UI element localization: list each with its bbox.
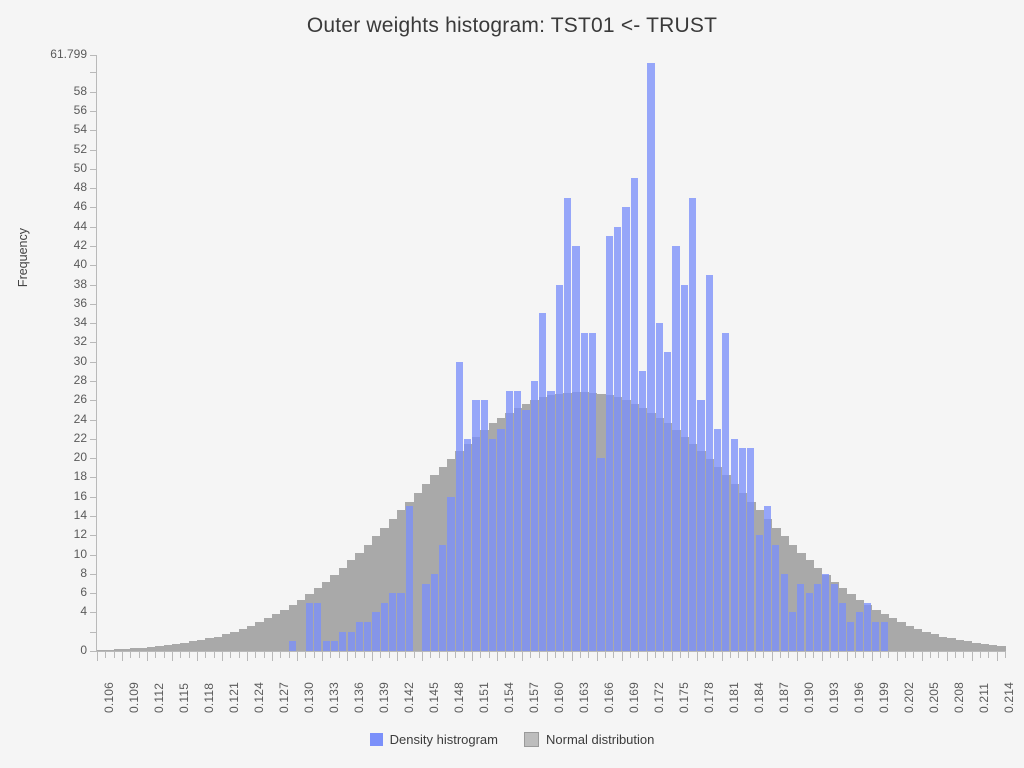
histogram-bar[interactable]: [522, 410, 529, 651]
y-axis-tick-label: 58: [74, 84, 87, 98]
x-axis-tick: [439, 652, 440, 658]
x-axis-tick: [822, 652, 823, 661]
y-axis-tick-label: 6: [80, 585, 87, 599]
histogram-bar[interactable]: [806, 593, 813, 651]
x-axis-tick-label: 0.115: [177, 683, 191, 713]
y-axis-tick: [90, 304, 97, 305]
y-axis-tick-label: 20: [74, 450, 87, 464]
x-axis-tick: [997, 652, 998, 661]
y-axis-tick-label: 54: [74, 122, 87, 136]
y-axis-tick: [90, 477, 97, 478]
y-axis-tick: [90, 72, 97, 73]
x-axis-tick: [330, 652, 331, 658]
y-axis-tick-label: 12: [74, 527, 87, 541]
histogram-bar[interactable]: [589, 333, 596, 651]
x-axis-tick: [364, 652, 365, 658]
x-axis-tick: [713, 652, 714, 658]
histogram-bar[interactable]: [872, 622, 879, 651]
histogram-bar[interactable]: [506, 391, 513, 651]
histogram-bar[interactable]: [639, 371, 646, 651]
x-axis-tick: [430, 652, 431, 658]
histogram-bar[interactable]: [731, 439, 738, 651]
x-axis-tick: [938, 652, 939, 658]
y-axis-tick-label: 30: [74, 354, 87, 368]
y-axis-tick: [90, 188, 97, 189]
histogram-bar[interactable]: [856, 612, 863, 651]
x-axis-tick-label: 0.109: [127, 682, 141, 713]
y-axis-tick: [90, 92, 97, 93]
histogram-bar[interactable]: [764, 506, 771, 651]
y-axis-tick: [90, 130, 97, 131]
x-axis-tick-label: 0.121: [227, 682, 241, 713]
x-axis-tick: [314, 652, 315, 658]
y-axis-tick: [90, 169, 97, 170]
legend-item-density-histogram[interactable]: Density histrogram: [370, 732, 498, 747]
x-axis-tick-label: 0.160: [552, 682, 566, 713]
x-axis-tick: [672, 652, 673, 661]
histogram-bar[interactable]: [539, 313, 546, 651]
x-axis-tick: [372, 652, 373, 661]
histogram-bar[interactable]: [722, 333, 729, 651]
x-axis-tick: [855, 652, 856, 658]
y-axis-tick-label: 10: [74, 547, 87, 561]
x-axis-tick: [655, 652, 656, 658]
y-axis-tick: [90, 265, 97, 266]
y-axis-tick-label: 46: [74, 199, 87, 213]
x-axis-tick: [972, 652, 973, 661]
x-axis-tick: [455, 652, 456, 658]
x-axis-tick-label: 0.199: [877, 682, 891, 713]
x-axis-tick-label: 0.106: [102, 682, 116, 713]
x-axis-tick-label: 0.214: [1002, 682, 1016, 713]
x-axis-tick-label: 0.208: [952, 682, 966, 713]
x-axis-tick: [247, 652, 248, 661]
histogram-bar[interactable]: [797, 584, 804, 652]
x-axis-tick-label: 0.193: [827, 682, 841, 713]
y-axis-tick: [90, 55, 97, 56]
histogram-bar[interactable]: [881, 622, 888, 651]
y-axis-tick: [90, 342, 97, 343]
x-axis-tick-label: 0.139: [377, 682, 391, 713]
histogram-bar[interactable]: [739, 448, 746, 651]
x-axis-tick-label: 0.181: [727, 682, 741, 713]
x-axis-tick: [838, 652, 839, 658]
x-axis-tick: [280, 652, 281, 658]
histogram-bar[interactable]: [781, 574, 788, 651]
histogram-bar[interactable]: [306, 603, 313, 651]
x-axis-tick: [572, 652, 573, 661]
y-axis-tick: [90, 420, 97, 421]
x-axis-tick: [514, 652, 515, 658]
y-axis-tick: [90, 535, 97, 536]
histogram-bar[interactable]: [389, 593, 396, 651]
y-axis-tick: [90, 516, 97, 517]
histogram-bar[interactable]: [381, 603, 388, 651]
histogram-bar[interactable]: [372, 612, 379, 651]
y-axis-tick-label: 52: [74, 142, 87, 156]
y-axis-tick-label: 56: [74, 103, 87, 117]
x-axis-tick: [930, 652, 931, 658]
x-axis-tick-label: 0.184: [752, 682, 766, 713]
x-axis-tick: [913, 652, 914, 658]
x-axis-tick-label: 0.136: [352, 682, 366, 713]
y-axis-tick-label: 26: [74, 392, 87, 406]
x-axis-tick: [347, 652, 348, 661]
x-axis-tick: [97, 652, 98, 661]
y-axis-tick: [90, 497, 97, 498]
x-axis-tick: [1005, 652, 1006, 658]
x-axis-tick: [597, 652, 598, 661]
histogram-bar[interactable]: [697, 400, 704, 651]
x-axis-tick: [480, 652, 481, 658]
x-axis-tick: [588, 652, 589, 658]
x-axis-tick-label: 0.142: [402, 682, 416, 713]
normal-curve-segment: [997, 646, 1006, 651]
x-axis-tick-label: 0.190: [802, 682, 816, 713]
histogram-bar[interactable]: [348, 632, 355, 651]
histogram-bar[interactable]: [331, 641, 338, 651]
x-axis-tick-label: 0.202: [902, 682, 916, 713]
x-axis-tick: [705, 652, 706, 658]
x-axis-tick: [547, 652, 548, 661]
x-axis-tick: [947, 652, 948, 661]
histogram-bar[interactable]: [822, 574, 829, 651]
histogram-bar[interactable]: [564, 198, 571, 651]
x-axis-tick: [738, 652, 739, 658]
x-axis-tick-label: 0.130: [302, 682, 316, 713]
x-axis-tick: [405, 652, 406, 658]
histogram-bar[interactable]: [789, 612, 796, 651]
x-axis-tick: [605, 652, 606, 658]
x-axis-tick: [872, 652, 873, 661]
y-axis-tick-label: 22: [74, 431, 87, 445]
y-axis-tick: [90, 400, 97, 401]
x-axis-tick: [339, 652, 340, 658]
y-axis-tick: [90, 227, 97, 228]
x-axis-tick: [222, 652, 223, 661]
x-axis-tick: [389, 652, 390, 658]
x-axis-tick: [863, 652, 864, 658]
x-axis-tick: [355, 652, 356, 658]
histogram-chart: Outer weights histogram: TST01 <- TRUST …: [0, 0, 1024, 768]
legend-swatch-icon: [370, 733, 383, 746]
histogram-bar[interactable]: [339, 632, 346, 651]
x-axis-tick: [638, 652, 639, 658]
x-axis-tick: [980, 652, 981, 658]
y-axis-tick-label: 32: [74, 334, 87, 348]
y-axis-tick: [90, 458, 97, 459]
x-axis-tick: [297, 652, 298, 661]
y-axis-tick: [90, 323, 97, 324]
histogram-bar[interactable]: [606, 236, 613, 651]
histogram-bar[interactable]: [531, 381, 538, 651]
x-axis-tick: [630, 652, 631, 658]
y-axis-title: Frequency: [16, 168, 30, 288]
x-axis-tick-label: 0.133: [327, 682, 341, 713]
x-axis-tick-label: 0.205: [927, 682, 941, 713]
histogram-bar[interactable]: [289, 641, 296, 651]
y-axis-tick: [90, 111, 97, 112]
x-axis-tick-label: 0.154: [502, 682, 516, 713]
x-axis-tick: [497, 652, 498, 661]
histogram-bar[interactable]: [597, 458, 604, 651]
x-axis-tick: [380, 652, 381, 658]
y-axis-tick-label: 50: [74, 161, 87, 175]
x-axis-tick: [305, 652, 306, 658]
histogram-bar[interactable]: [406, 506, 413, 651]
y-axis-tick-label: 4: [80, 604, 87, 618]
x-axis-tick: [139, 652, 140, 658]
x-axis-tick: [122, 652, 123, 661]
x-axis-tick: [688, 652, 689, 658]
y-axis-tick-label: 0: [80, 643, 87, 657]
x-axis-tick: [489, 652, 490, 658]
x-axis-tick: [880, 652, 881, 658]
x-axis-tick-label: 0.187: [777, 682, 791, 713]
x-axis-tick: [788, 652, 789, 658]
x-axis-tick: [172, 652, 173, 661]
y-axis-tick: [90, 150, 97, 151]
histogram-bar[interactable]: [481, 400, 488, 651]
histogram-bar[interactable]: [664, 352, 671, 651]
histogram-bar[interactable]: [847, 622, 854, 651]
x-axis-tick: [805, 652, 806, 658]
y-axis-tick: [90, 651, 97, 652]
chart-legend: Density histrogram Normal distribution: [0, 732, 1024, 747]
y-axis-tick: [90, 439, 97, 440]
histogram-bar[interactable]: [772, 545, 779, 651]
histogram-bar[interactable]: [556, 285, 563, 651]
x-axis-tick: [613, 652, 614, 658]
histogram-bar[interactable]: [323, 641, 330, 651]
histogram-bar[interactable]: [714, 429, 721, 651]
histogram-bar[interactable]: [706, 275, 713, 651]
x-axis-tick: [464, 652, 465, 658]
y-axis-tick: [90, 593, 97, 594]
y-axis-tick-label: 8: [80, 566, 87, 580]
x-axis-tick: [447, 652, 448, 661]
y-axis-tick-label: 44: [74, 219, 87, 233]
histogram-bar[interactable]: [681, 285, 688, 651]
y-axis-tick: [90, 632, 97, 633]
y-axis-tick-label: 34: [74, 315, 87, 329]
x-axis-tick: [255, 652, 256, 658]
x-axis-tick: [797, 652, 798, 661]
x-axis-tick-label: 0.172: [652, 682, 666, 713]
y-axis-tick-label: 14: [74, 508, 87, 522]
x-axis-tick: [763, 652, 764, 658]
y-axis-tick-label: 40: [74, 257, 87, 271]
histogram-bar[interactable]: [747, 448, 754, 651]
chart-title: Outer weights histogram: TST01 <- TRUST: [0, 14, 1024, 38]
x-axis-tick-label: 0.118: [202, 683, 216, 713]
histogram-bar[interactable]: [572, 246, 579, 651]
y-axis-tick: [90, 612, 97, 613]
x-axis-tick-label: 0.163: [577, 682, 591, 713]
histogram-bar[interactable]: [814, 584, 821, 652]
x-axis-tick-label: 0.157: [527, 682, 541, 713]
x-axis-tick: [189, 652, 190, 658]
x-axis-tick: [813, 652, 814, 658]
x-axis-tick: [722, 652, 723, 661]
x-axis-tick: [397, 652, 398, 661]
x-axis-tick: [205, 652, 206, 658]
x-axis-tick: [180, 652, 181, 658]
histogram-bar[interactable]: [864, 603, 871, 651]
x-axis-tick-label: 0.151: [477, 682, 491, 713]
x-axis-tick: [505, 652, 506, 658]
x-axis-tick: [197, 652, 198, 661]
x-axis-tick: [780, 652, 781, 658]
histogram-bar[interactable]: [672, 246, 679, 651]
x-axis-tick-label: 0.196: [852, 682, 866, 713]
y-axis-tick: [90, 207, 97, 208]
x-axis-tick: [322, 652, 323, 661]
histogram-bar[interactable]: [756, 535, 763, 651]
x-axis-tick: [747, 652, 748, 661]
histogram-bar[interactable]: [464, 439, 471, 651]
x-axis-tick-label: 0.127: [277, 682, 291, 713]
x-axis-tick-label: 0.112: [152, 683, 166, 713]
histogram-bar[interactable]: [356, 622, 363, 651]
y-axis-tick-label: 24: [74, 412, 87, 426]
y-axis-tick: [90, 555, 97, 556]
x-axis-tick: [663, 652, 664, 658]
x-axis-tick-label: 0.169: [627, 682, 641, 713]
x-axis-tick: [622, 652, 623, 661]
y-axis-tick-label: 28: [74, 373, 87, 387]
x-axis-tick: [963, 652, 964, 658]
x-axis-tick: [422, 652, 423, 661]
x-axis-tick: [530, 652, 531, 658]
x-axis-tick: [214, 652, 215, 658]
histogram-bar[interactable]: [547, 391, 554, 651]
x-axis-tick: [522, 652, 523, 661]
y-axis-tick: [90, 285, 97, 286]
x-axis-tick: [888, 652, 889, 658]
legend-label: Density histrogram: [390, 732, 498, 747]
x-axis-tick: [289, 652, 290, 658]
histogram-bar[interactable]: [656, 323, 663, 651]
legend-item-normal-distribution[interactable]: Normal distribution: [524, 732, 654, 747]
histogram-bar[interactable]: [439, 545, 446, 651]
histogram-bar[interactable]: [831, 584, 838, 652]
x-axis-tick: [230, 652, 231, 658]
y-axis-tick: [90, 246, 97, 247]
x-axis-line: [96, 651, 1006, 652]
x-axis-tick: [130, 652, 131, 658]
x-axis-tick: [897, 652, 898, 661]
x-axis-tick: [922, 652, 923, 661]
histogram-bar[interactable]: [314, 603, 321, 651]
y-axis-title-text: Frequency: [16, 228, 30, 287]
histogram-bar[interactable]: [514, 391, 521, 651]
x-axis-tick: [988, 652, 989, 658]
histogram-bar[interactable]: [497, 429, 504, 651]
y-axis-tick-label: 61.799: [50, 47, 87, 61]
x-axis-tick: [555, 652, 556, 658]
x-axis-tick: [955, 652, 956, 658]
histogram-bar[interactable]: [647, 63, 654, 651]
x-axis-tick-label: 0.178: [702, 682, 716, 713]
x-axis-tick-label: 0.166: [602, 682, 616, 713]
x-axis-tick-label: 0.124: [252, 682, 266, 713]
plot-area: [97, 55, 1005, 651]
y-axis-tick-label: 42: [74, 238, 87, 252]
y-axis-tick-label: 16: [74, 489, 87, 503]
x-axis-tick: [905, 652, 906, 658]
x-axis-tick: [272, 652, 273, 661]
x-axis-tick: [697, 652, 698, 661]
x-axis-tick-label: 0.145: [427, 682, 441, 713]
x-axis-tick: [155, 652, 156, 658]
x-axis-tick: [580, 652, 581, 658]
x-axis-tick-label: 0.148: [452, 682, 466, 713]
histogram-bar[interactable]: [422, 584, 429, 652]
y-axis-tick: [90, 574, 97, 575]
histogram-bar[interactable]: [614, 227, 621, 651]
x-axis-tick: [772, 652, 773, 661]
histogram-bar[interactable]: [622, 207, 629, 651]
x-axis-tick: [147, 652, 148, 661]
histogram-bar[interactable]: [581, 333, 588, 651]
histogram-bar[interactable]: [456, 362, 463, 651]
y-axis-tick-label: 36: [74, 296, 87, 310]
x-axis-tick-label: 0.211: [977, 683, 991, 713]
legend-label: Normal distribution: [546, 732, 654, 747]
histogram-bar[interactable]: [689, 198, 696, 651]
histogram-bar[interactable]: [631, 178, 638, 651]
histogram-bar[interactable]: [364, 622, 371, 651]
histogram-bar[interactable]: [447, 497, 454, 651]
y-axis-tick-label: 18: [74, 469, 87, 483]
x-axis-tick: [847, 652, 848, 661]
x-axis-tick: [539, 652, 540, 658]
x-axis-tick: [414, 652, 415, 658]
y-axis-tick-label: 48: [74, 180, 87, 194]
histogram-bar[interactable]: [489, 439, 496, 651]
histogram-bar[interactable]: [839, 603, 846, 651]
x-axis-tick: [647, 652, 648, 661]
legend-swatch-icon: [524, 732, 539, 747]
x-axis-tick: [730, 652, 731, 658]
y-axis-tick-label: 38: [74, 277, 87, 291]
x-axis-tick-label: 0.175: [677, 682, 691, 713]
y-axis-line: [96, 55, 97, 652]
x-axis-tick: [472, 652, 473, 661]
y-axis-tick: [90, 362, 97, 363]
histogram-bar[interactable]: [431, 574, 438, 651]
x-axis-tick: [105, 652, 106, 658]
x-axis-tick: [680, 652, 681, 658]
histogram-bar[interactable]: [472, 400, 479, 651]
x-axis-tick: [114, 652, 115, 658]
x-axis-tick: [264, 652, 265, 658]
x-axis-tick: [563, 652, 564, 658]
y-axis-tick: [90, 381, 97, 382]
x-axis-tick: [239, 652, 240, 658]
x-axis-tick: [755, 652, 756, 658]
histogram-bar[interactable]: [397, 593, 404, 651]
x-axis-tick: [164, 652, 165, 658]
x-axis-tick: [830, 652, 831, 658]
